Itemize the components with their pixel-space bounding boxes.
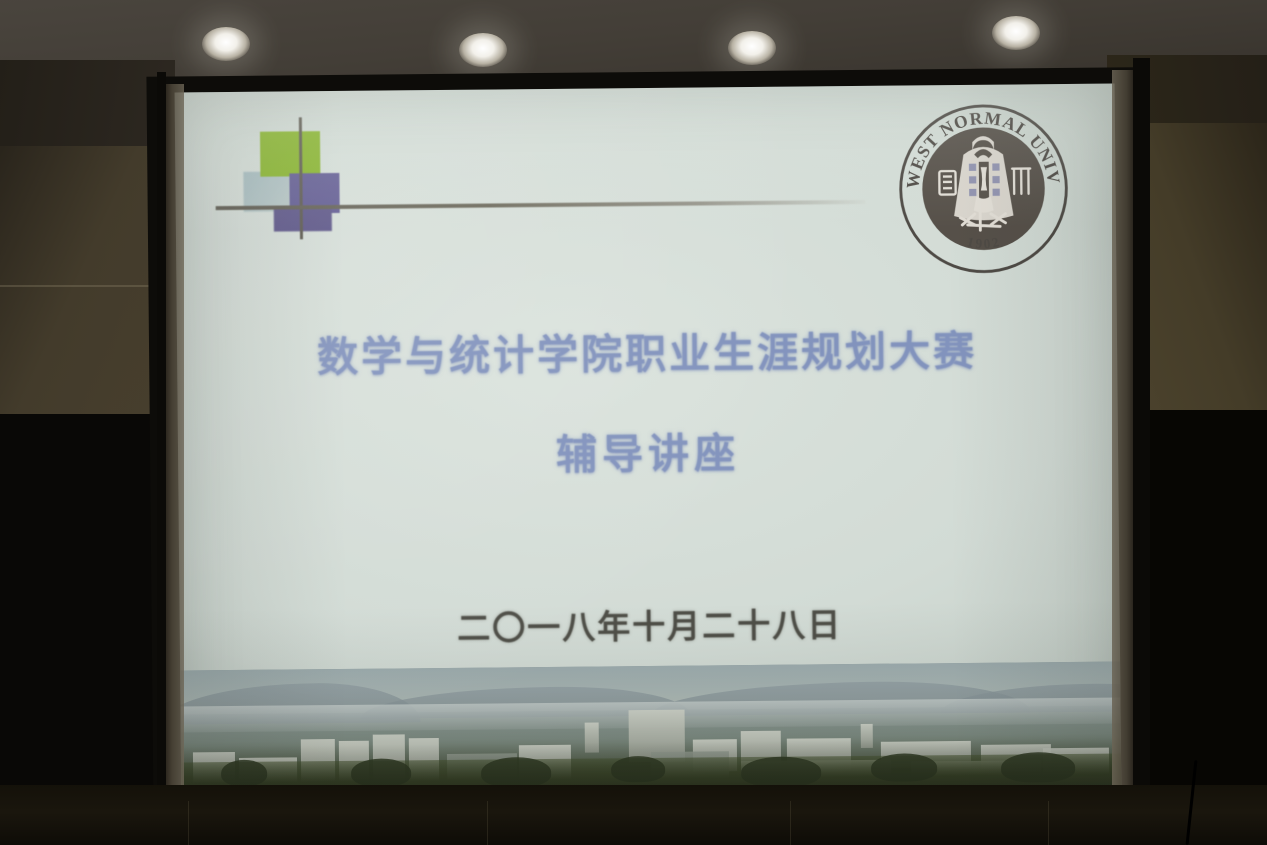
slide-date: 二〇一八年十月二十八日 bbox=[179, 595, 1119, 652]
conference-room-scene: NORTHWEST NORMAL UNIVERSITY 1902 bbox=[0, 0, 1267, 845]
decor-green-square bbox=[260, 131, 320, 177]
wall-right-lower-dark bbox=[1137, 410, 1267, 845]
wall-panel-seam bbox=[0, 285, 157, 287]
wall-seam bbox=[1048, 801, 1049, 845]
ceiling-light bbox=[202, 27, 250, 61]
ceiling-light bbox=[728, 31, 776, 65]
slide-decor-motif bbox=[205, 109, 356, 250]
screen-frame-right-bar bbox=[1133, 58, 1150, 845]
lower-wall bbox=[0, 785, 1267, 845]
university-seal-logo: NORTHWEST NORMAL UNIVERSITY 1902 bbox=[893, 98, 1075, 280]
wall-left-lower-dark bbox=[0, 414, 160, 845]
screen-frame-left-bar bbox=[157, 72, 166, 832]
wall-seam bbox=[188, 801, 189, 845]
ceiling-light bbox=[992, 16, 1040, 50]
svg-text:1902: 1902 bbox=[966, 234, 1003, 252]
wall-seam bbox=[790, 801, 791, 845]
projection-screen: NORTHWEST NORMAL UNIVERSITY 1902 bbox=[175, 84, 1122, 809]
ceiling-light bbox=[459, 33, 507, 67]
slide-subtitle: 辅导讲座 bbox=[178, 415, 1119, 484]
screen-frame-left-strip bbox=[164, 84, 184, 824]
slide-title: 数学与统计学院职业生涯规划大赛 bbox=[177, 315, 1118, 384]
wall-seam bbox=[487, 801, 488, 845]
